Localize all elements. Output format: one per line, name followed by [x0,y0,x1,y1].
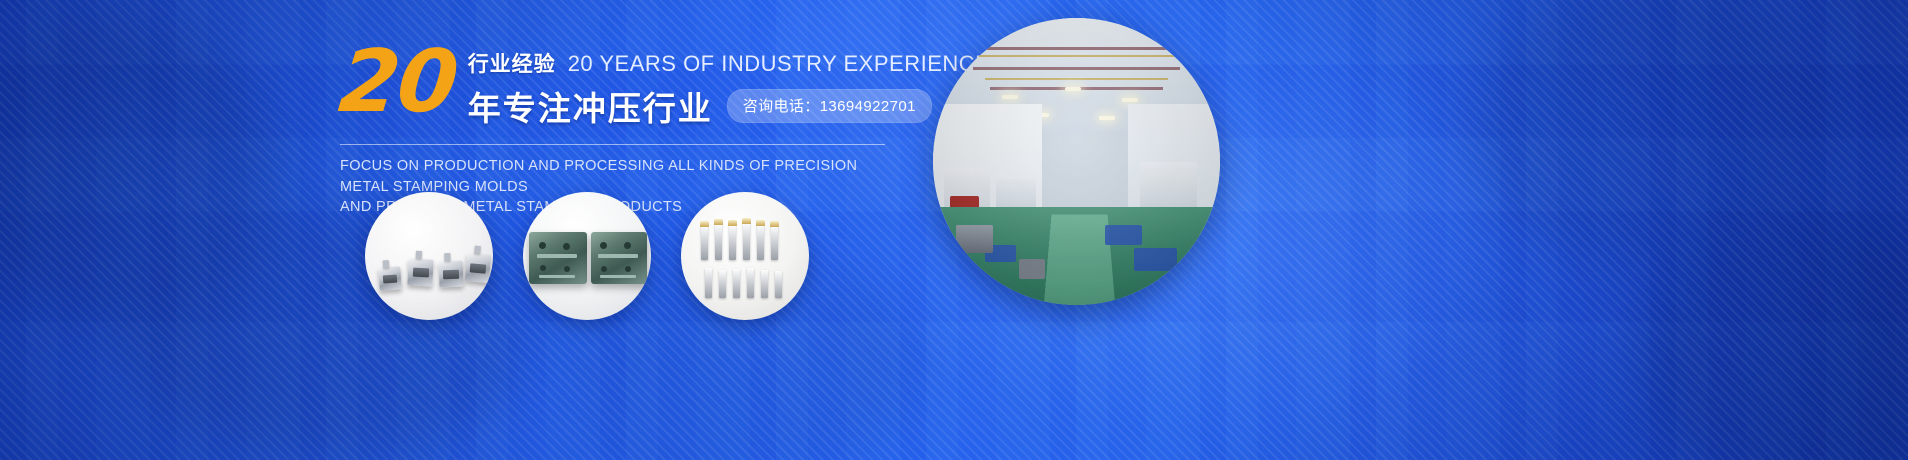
factory-photo-circle [933,18,1220,305]
headline-line-1: 行业经验 20 YEARS OF INDUSTRY EXPERIENCE [468,48,991,78]
product-circle-group [365,192,809,320]
headline-line-2: 年专注冲压行业 咨询电话：13694922701 [468,82,991,130]
phone-badge[interactable]: 咨询电话：13694922701 [727,89,932,123]
headline-text-group: 行业经验 20 YEARS OF INDUSTRY EXPERIENCE 年专注… [468,40,991,130]
divider-line [340,144,885,145]
headline-en-small: 20 YEARS OF INDUSTRY EXPERIENCE [568,51,991,77]
headline-cn-small: 行业经验 [468,48,556,78]
headline-row: 20 行业经验 20 YEARS OF INDUSTRY EXPERIENCE … [340,40,910,130]
headline-cn-big: 年专注冲压行业 [468,82,713,130]
subtitle-line-1: FOCUS ON PRODUCTION AND PROCESSING ALL K… [340,156,910,197]
product-circle-pins [681,192,809,320]
years-number: 20 [336,46,471,120]
product-circle-die-plates [523,192,651,320]
promo-banner: 20 行业经验 20 YEARS OF INDUSTRY EXPERIENCE … [0,0,1908,460]
product-circle-connectors [365,192,493,320]
